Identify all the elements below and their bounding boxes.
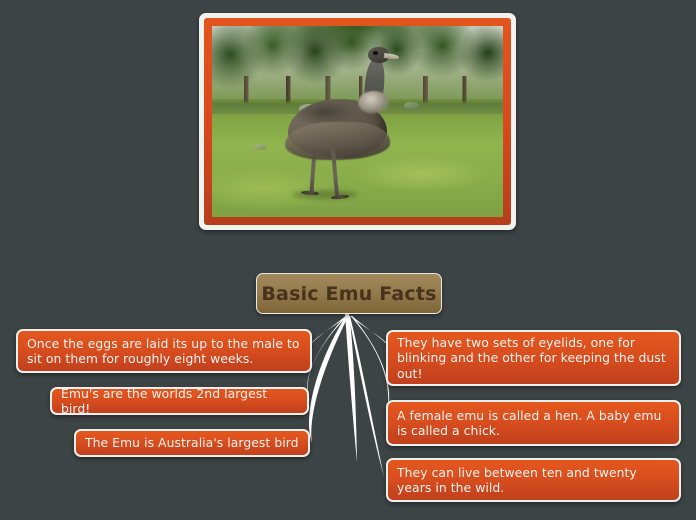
- fact-box-egg-incubation[interactable]: Once the eggs are laid its up to the mal…: [16, 329, 312, 373]
- connector-to-fact-1: [307, 316, 348, 401]
- connector-to-fact-3: [350, 316, 389, 351]
- connector-to-fact-0: [309, 316, 347, 350]
- connector-to-fact-2: [309, 316, 349, 443]
- mindmap-canvas: Basic Emu Facts Once the eggs are laid i…: [0, 0, 696, 520]
- fact-box-lifespan[interactable]: They can live between ten and twenty yea…: [386, 458, 681, 502]
- fact-text: The Emu is Australia's largest bird: [85, 435, 299, 451]
- photo-rock: [253, 144, 266, 150]
- fact-box-australias-largest-bird[interactable]: The Emu is Australia's largest bird: [74, 429, 310, 457]
- fact-box-hen-and-chick[interactable]: A female emu is called a hen. A baby emu…: [386, 400, 681, 446]
- fact-text: Emu's are the worlds 2nd largest bird!: [61, 386, 298, 417]
- connector-to-fact-5: [349, 316, 385, 477]
- connector-stem: [345, 314, 357, 462]
- fact-box-two-sets-of-eyelids[interactable]: They have two sets of eyelids, one for b…: [386, 330, 681, 386]
- page-title: Basic Emu Facts: [261, 283, 436, 305]
- connector-to-fact-4: [351, 316, 390, 421]
- fact-text: A female emu is called a hen. A baby emu…: [397, 408, 670, 439]
- emu-photograph: [212, 26, 503, 217]
- fact-text: They have two sets of eyelids, one for b…: [397, 335, 670, 382]
- emu-photo-matte: [204, 18, 511, 225]
- fact-text: They can live between ten and twenty yea…: [397, 465, 670, 496]
- mindmap-title-node[interactable]: Basic Emu Facts: [256, 273, 442, 314]
- emu-plumage: [285, 122, 390, 160]
- fact-box-second-largest-bird[interactable]: Emu's are the worlds 2nd largest bird!: [50, 387, 309, 415]
- photo-rock: [404, 102, 419, 109]
- emu-eye: [373, 51, 377, 55]
- fact-text: Once the eggs are laid its up to the mal…: [27, 336, 301, 367]
- emu-neck-ruff: [358, 91, 390, 114]
- emu-photo-frame: [199, 13, 516, 230]
